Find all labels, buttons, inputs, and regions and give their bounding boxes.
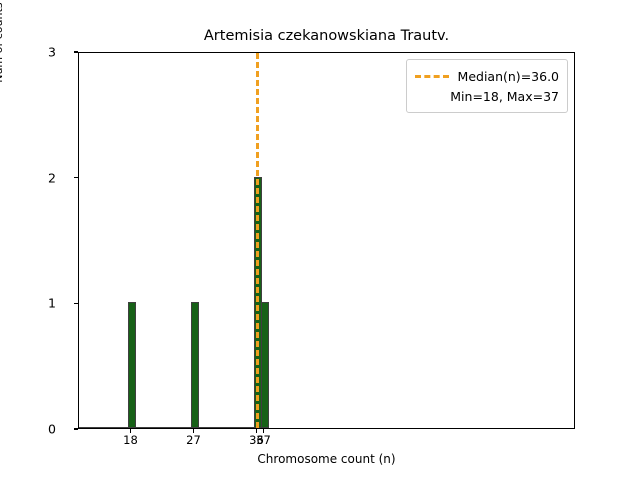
median-line	[256, 53, 259, 428]
y-axis-tick-label: 3	[16, 45, 56, 60]
legend-item-minmax: Min=18, Max=37	[415, 86, 559, 106]
x-axis-tick-label: 18	[101, 433, 161, 447]
y-axis-tick-label: 1	[16, 296, 56, 311]
y-axis-label: Num of counts (Total 5)	[0, 0, 5, 160]
x-axis-tick-label: 27	[164, 433, 224, 447]
y-axis-tick-label: 0	[16, 422, 56, 437]
page-title: Artemisia czekanowskiana Trautv.	[78, 28, 575, 44]
chart-figure: Artemisia czekanowskiana Trautv. Num of …	[0, 0, 640, 480]
legend-item-label: Min=18, Max=37	[415, 89, 559, 104]
bar-baseline	[79, 427, 269, 428]
y-axis-tick-label: 2	[16, 170, 56, 185]
bar	[261, 302, 269, 428]
bar	[128, 302, 136, 428]
legend: Median(n)=36.0 Min=18, Max=37	[406, 59, 568, 113]
plot-area: Median(n)=36.0 Min=18, Max=37	[78, 52, 575, 429]
bar	[191, 302, 199, 428]
legend-item-label: Median(n)=36.0	[458, 69, 559, 84]
x-axis-tick-label: 37	[234, 433, 294, 447]
legend-item-median: Median(n)=36.0	[415, 66, 559, 86]
x-axis-label: Chromosome count (n)	[78, 452, 575, 466]
dashed-line-icon	[415, 75, 449, 78]
